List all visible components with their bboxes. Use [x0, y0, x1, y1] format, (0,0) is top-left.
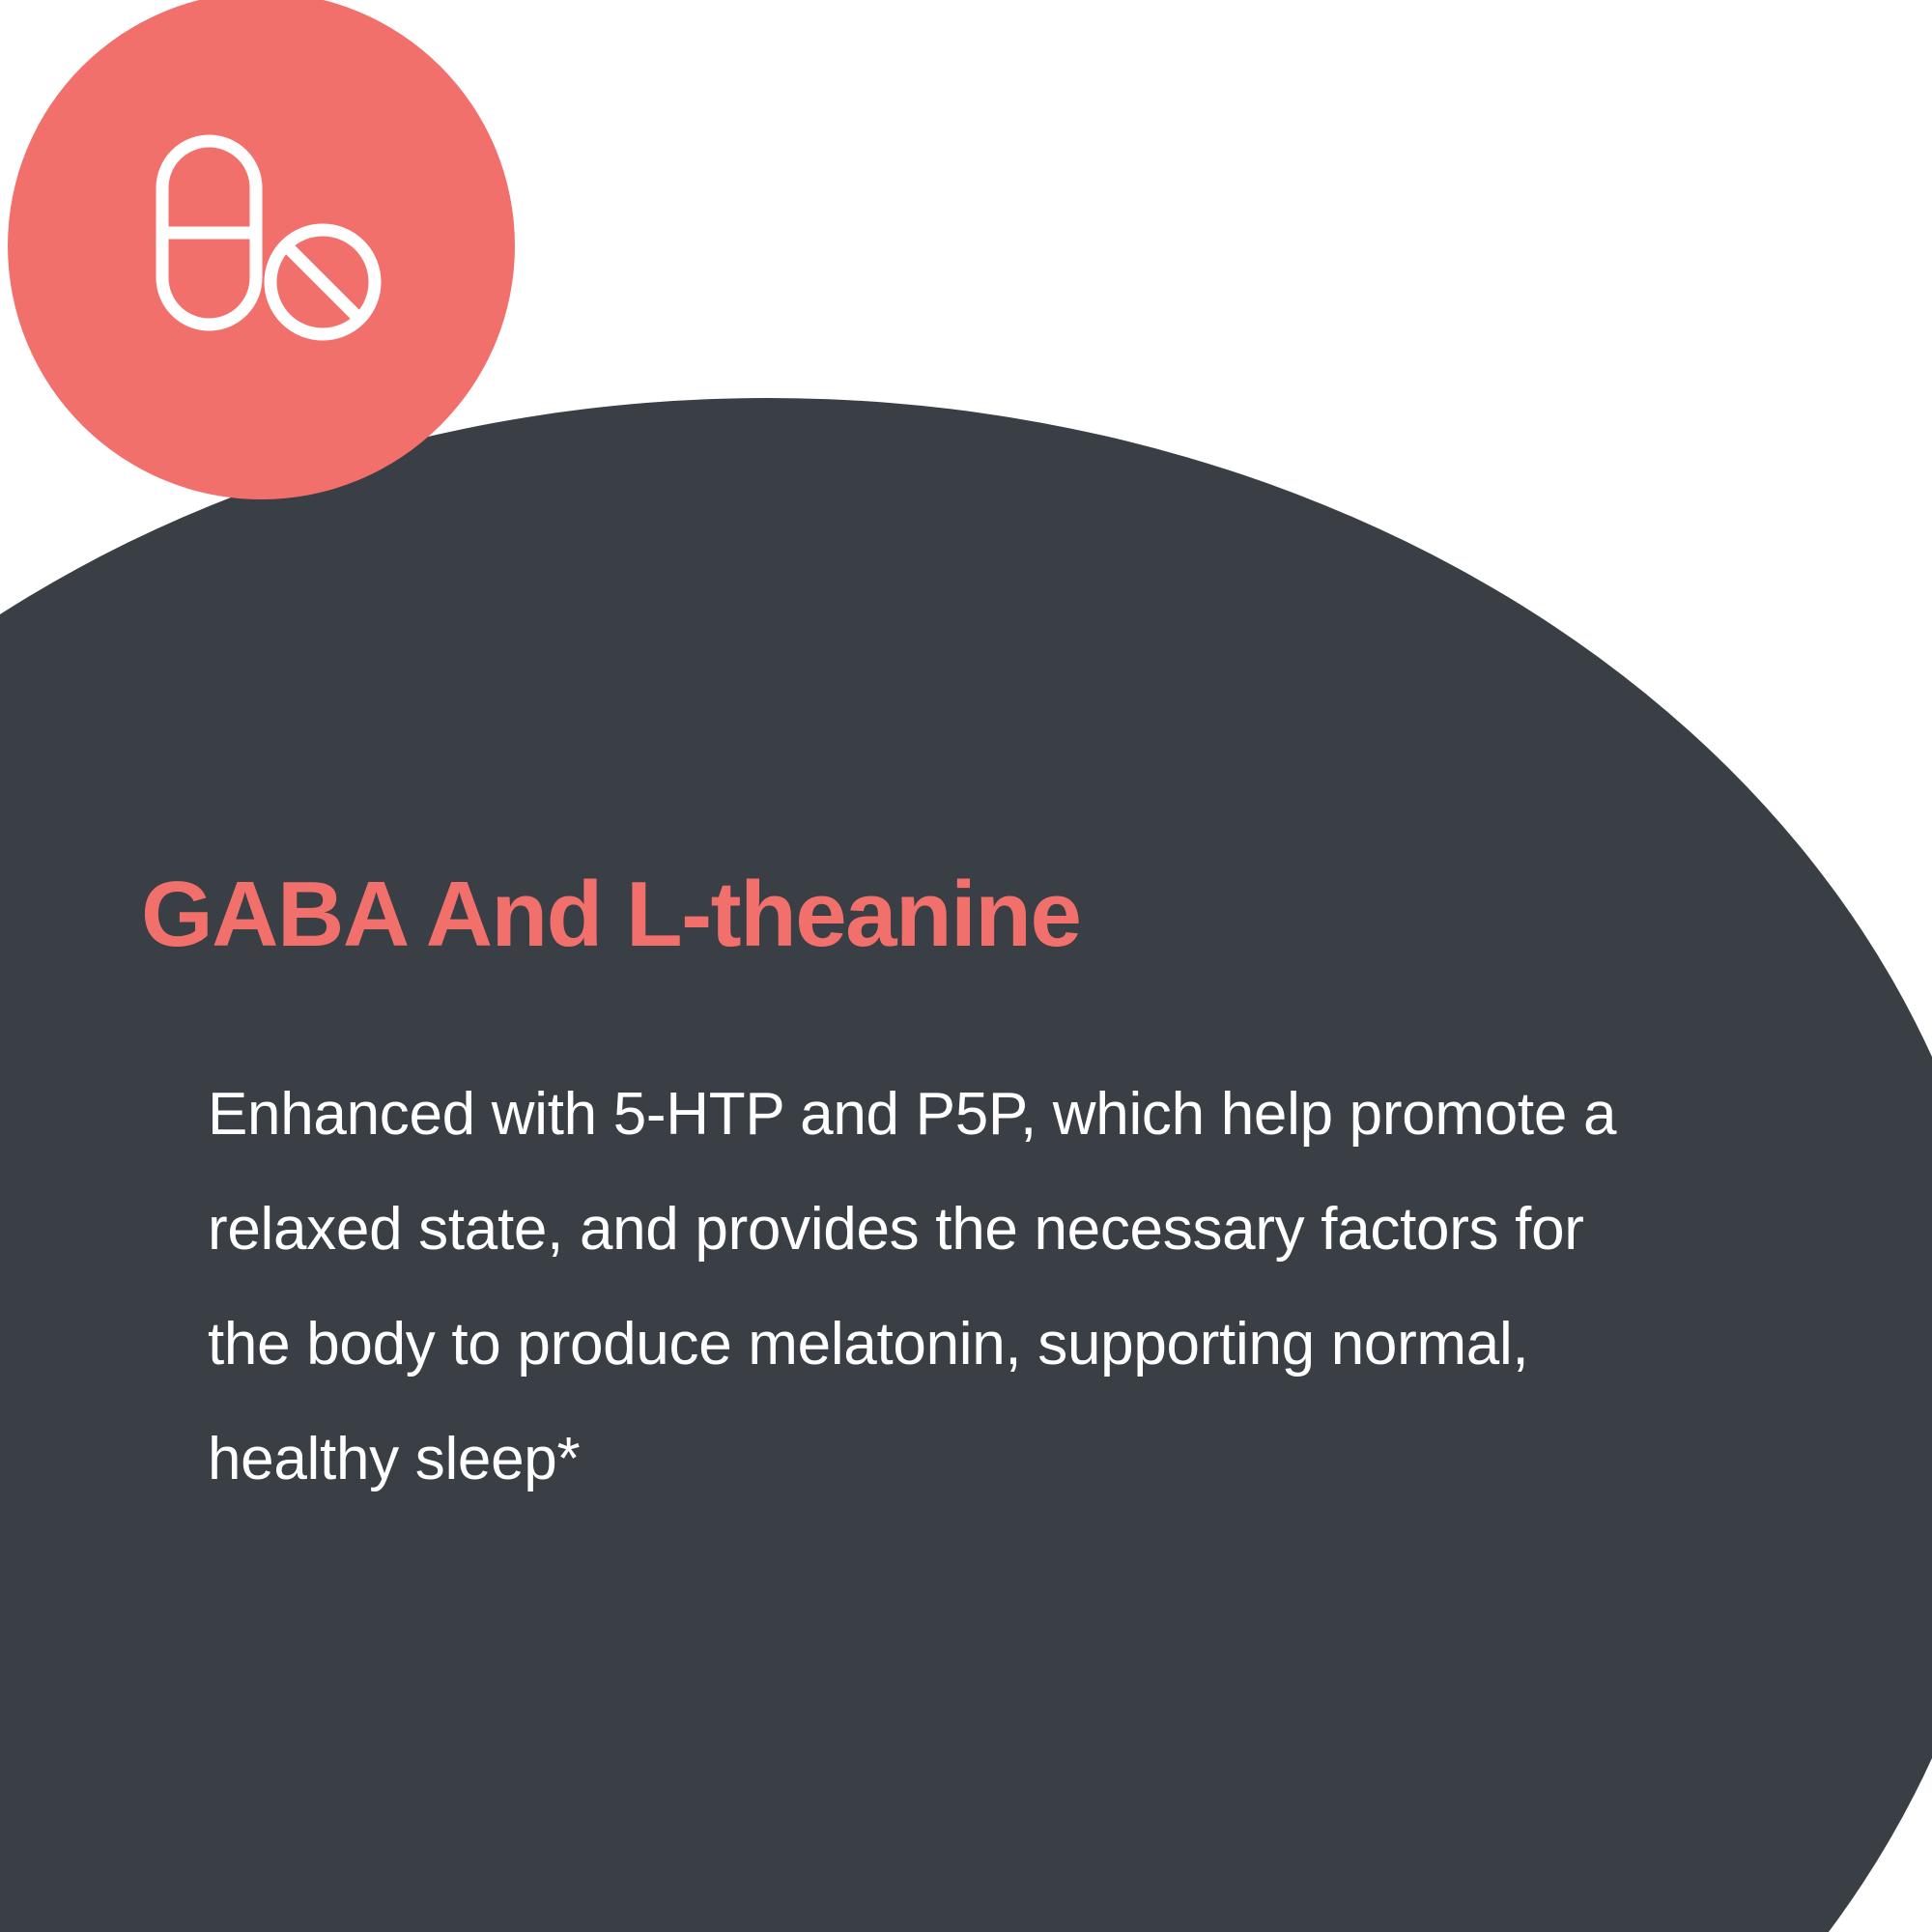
- feature-card: GABA And L-theanine Enhanced with 5-HTP …: [0, 0, 1932, 1932]
- pills-icon: [143, 128, 384, 345]
- dark-ellipse-backdrop: [0, 398, 1932, 1932]
